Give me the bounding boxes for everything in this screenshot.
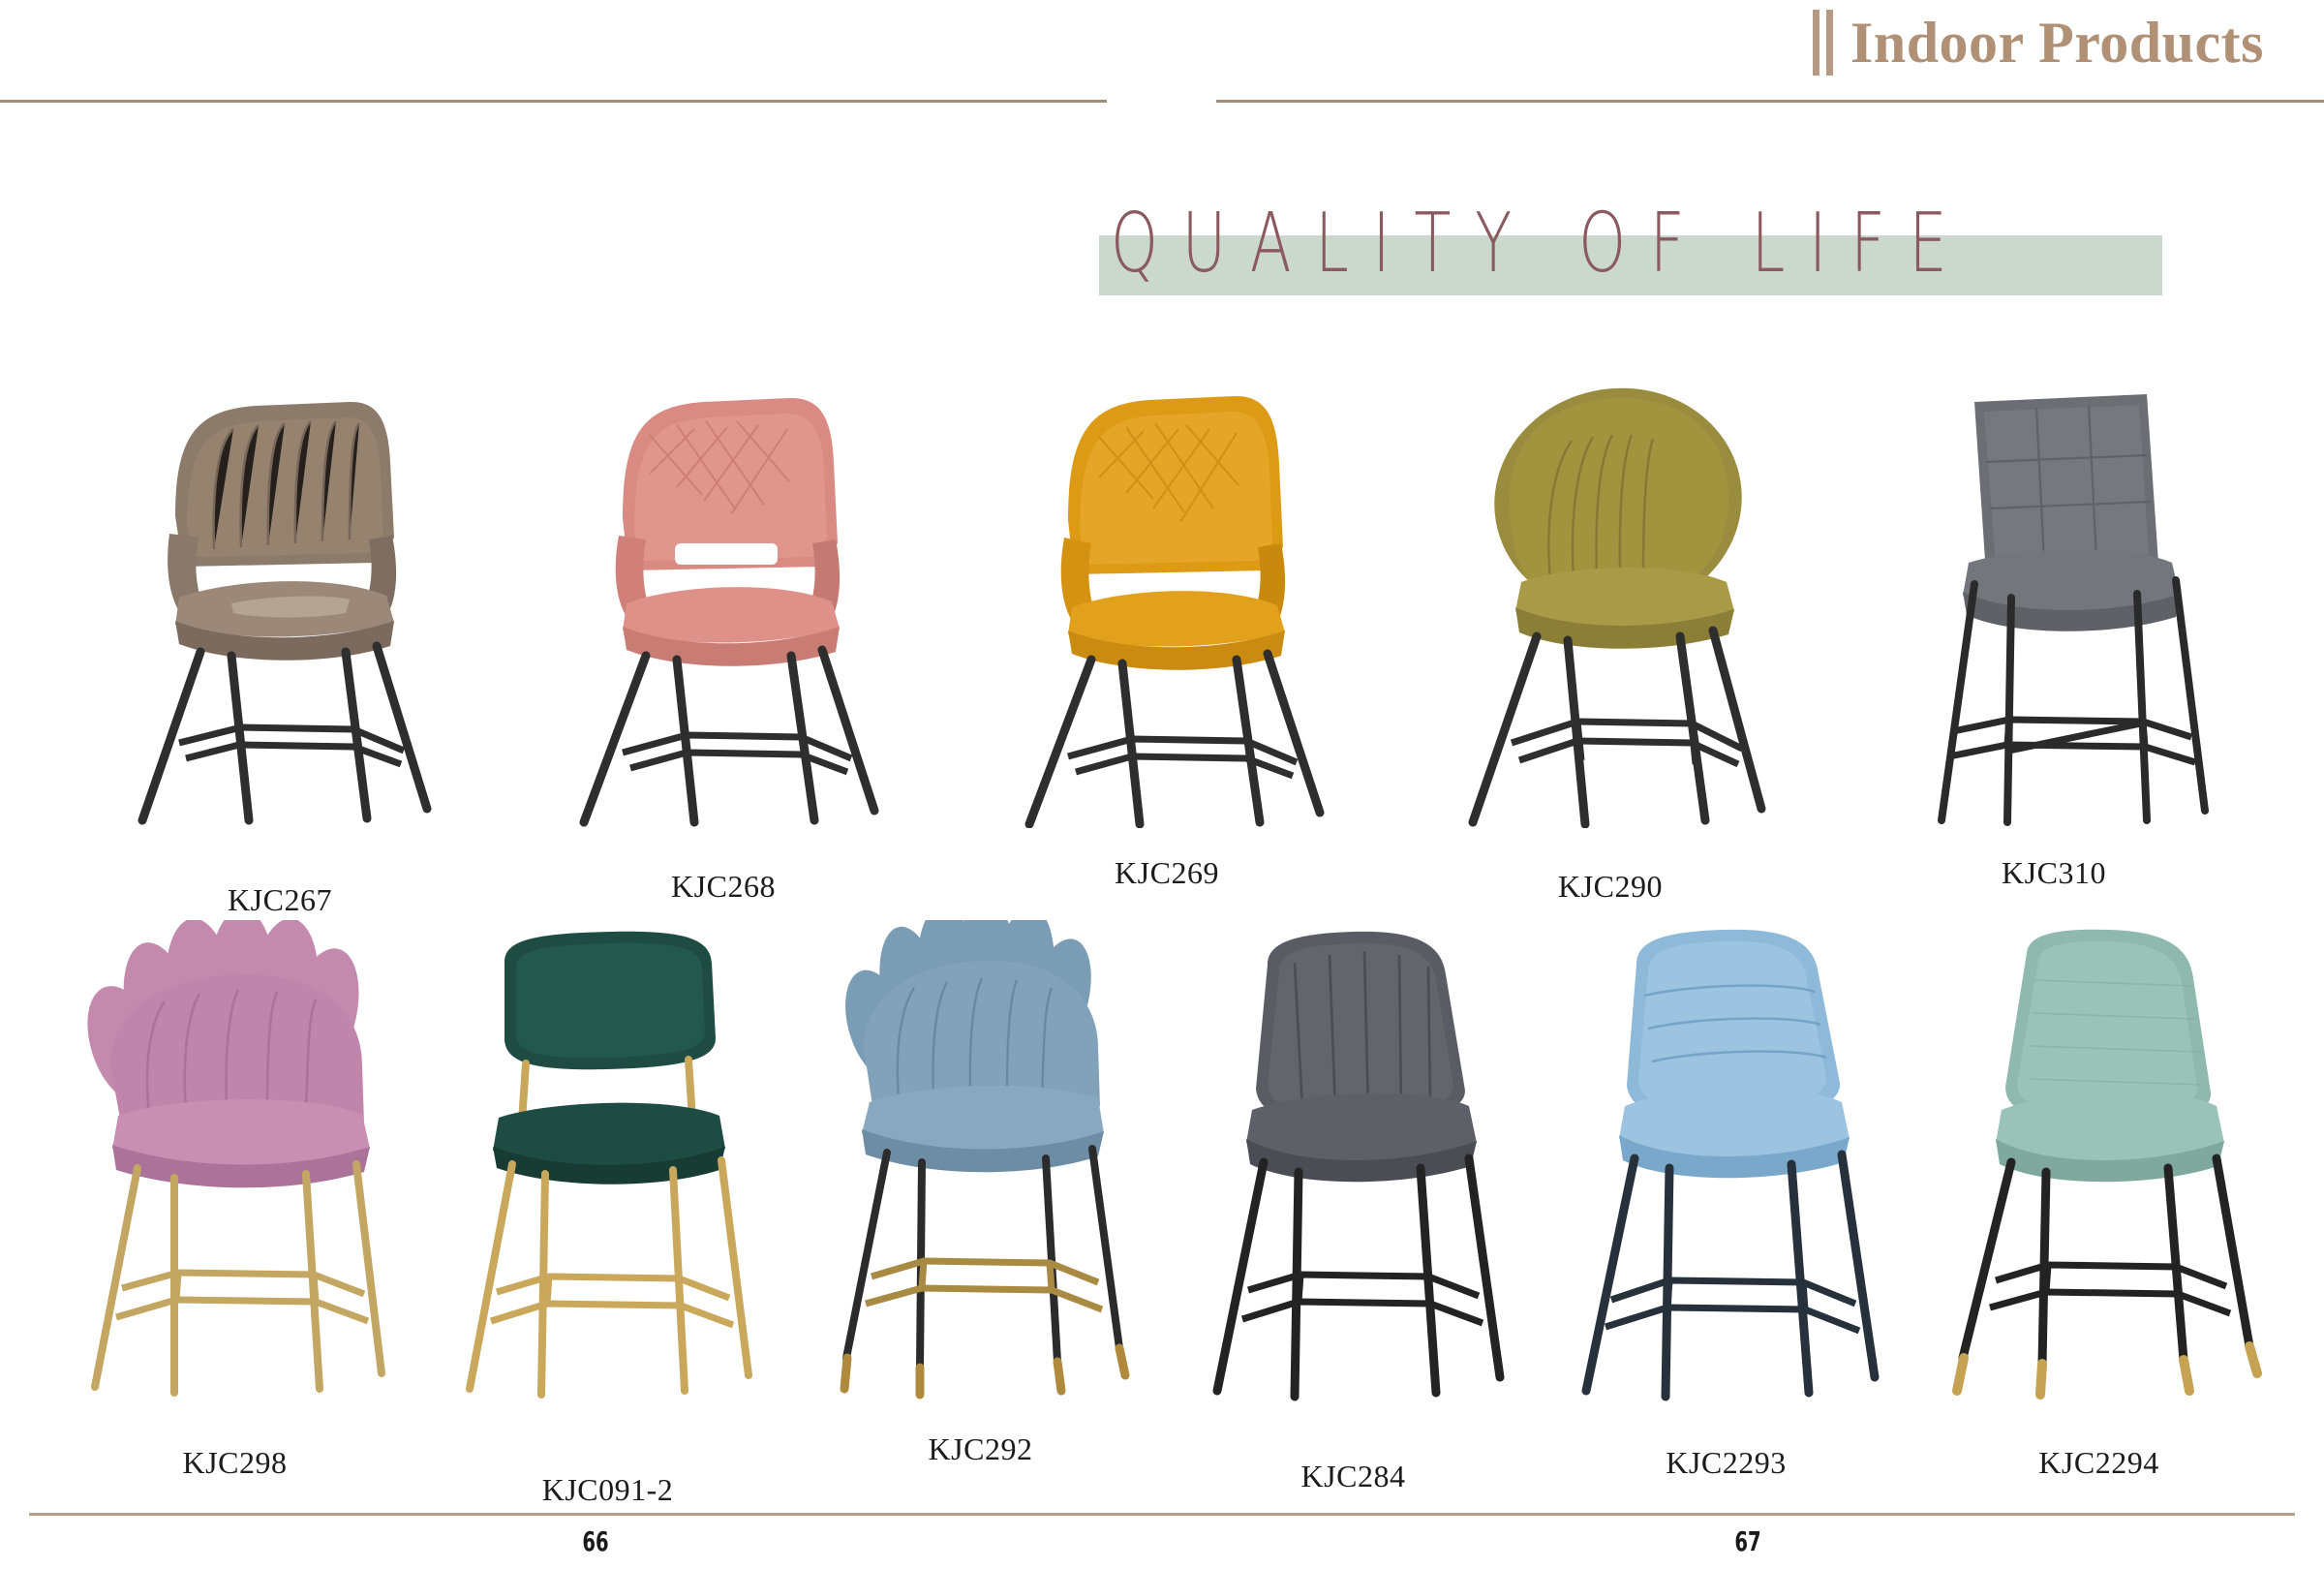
product-card[interactable]: KJC2293 (1540, 920, 1912, 1492)
banner-headline: QUALITY OF LIFE (1111, 182, 1973, 301)
product-image-kjc298 (48, 920, 421, 1447)
product-code-label: KJC2294 (2038, 1447, 2158, 1478)
header-title-group: Indoor Products (1813, 10, 2264, 76)
product-image-kjc267 (58, 373, 502, 884)
product-code-label: KJC292 (929, 1433, 1033, 1464)
product-card[interactable]: KJC2294 (1912, 920, 2285, 1492)
product-card[interactable]: KJC292 (794, 920, 1167, 1492)
page-number-left: 66 (575, 1525, 616, 1557)
product-row-2: KJC298 (48, 920, 2285, 1492)
product-code-label: KJC310 (2002, 857, 2106, 888)
chair-illustration (86, 373, 474, 828)
product-code-label: KJC298 (183, 1447, 288, 1478)
chair-illustration (1417, 373, 1804, 828)
product-card[interactable]: KJC284 (1167, 920, 1540, 1492)
product-card[interactable]: KJC298 (48, 920, 421, 1492)
product-image-kjc269 (945, 373, 1389, 857)
product-code-label: KJC268 (671, 871, 776, 902)
product-code-label: KJC269 (1115, 857, 1219, 888)
product-card[interactable]: KJC091-2 (421, 920, 794, 1492)
chair-illustration (802, 920, 1160, 1404)
product-card[interactable]: KJC290 (1389, 373, 1832, 915)
double-bar-icon (1813, 10, 1833, 76)
page-title: Indoor Products (1850, 14, 2264, 72)
quality-of-life-banner: QUALITY OF LIFE (1099, 189, 2162, 295)
product-card[interactable]: KJC268 (502, 373, 945, 915)
product-card[interactable]: KJC269 (945, 373, 1389, 915)
product-image-kjc290 (1389, 373, 1832, 871)
product-row-1: KJC267 (58, 373, 2276, 915)
chair-illustration (973, 373, 1361, 828)
product-image-kjc2294 (1912, 920, 2285, 1447)
product-code-label: KJC290 (1558, 871, 1663, 902)
product-code-label: KJC284 (1301, 1461, 1406, 1492)
product-code-label: KJC267 (228, 884, 332, 915)
page-number-right: 67 (1728, 1525, 1768, 1557)
product-code-label: KJC091-2 (542, 1474, 674, 1505)
product-card[interactable]: KJC267 (58, 373, 502, 915)
header-rule-right (1216, 100, 2324, 103)
chair-illustration (56, 920, 414, 1404)
product-image-kjc284 (1167, 920, 1540, 1461)
product-image-kjc292 (794, 920, 1167, 1433)
chair-illustration (1860, 373, 2248, 828)
chair-illustration (1920, 920, 2278, 1404)
chair-illustration (1547, 920, 1906, 1404)
chair-illustration (429, 920, 787, 1404)
chair-illustration (530, 373, 917, 828)
page-header: Indoor Products (0, 0, 2324, 111)
product-image-kjc310 (1832, 373, 2276, 857)
footer-rule (29, 1513, 2295, 1516)
header-rule-left (0, 100, 1107, 103)
product-image-kjc268 (502, 373, 945, 871)
product-code-label: KJC2293 (1666, 1447, 1786, 1478)
product-image-kjc2293 (1540, 920, 1912, 1447)
product-image-kjc091-2 (421, 920, 794, 1474)
product-card[interactable]: KJC310 (1832, 373, 2276, 915)
chair-illustration (1175, 920, 1533, 1404)
